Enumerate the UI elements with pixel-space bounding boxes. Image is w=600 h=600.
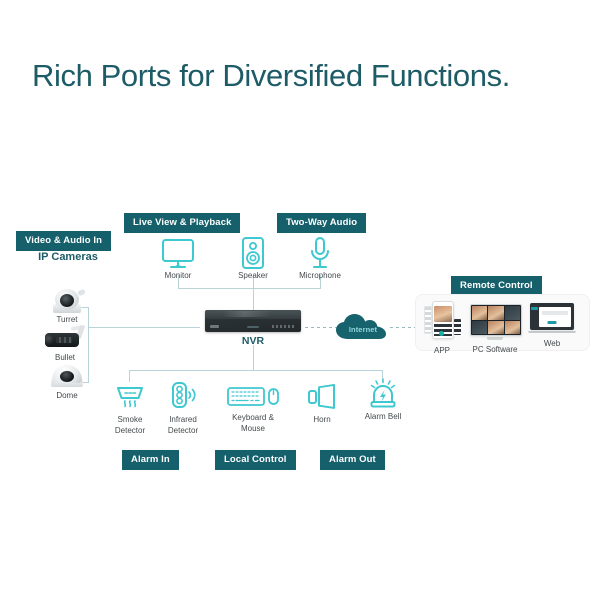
ip-cameras-caption: IP Cameras xyxy=(16,251,120,263)
internet-cloud: Internet xyxy=(334,312,392,342)
peripheral-bus-line xyxy=(129,370,382,371)
peripheral-label-alarm-bell: Alarm Bell xyxy=(357,412,409,423)
peripheral-label-horn: Horn xyxy=(296,415,348,426)
peripheral-item-smoke-detector[interactable]: Smoke Detector xyxy=(104,383,156,437)
peripheral-label-infrared-detector: Infrared Detector xyxy=(157,415,209,437)
cameras-to-nvr-line xyxy=(88,327,200,328)
camera-label-dome: Dome xyxy=(37,391,97,402)
peripheral-item-infrared-detector[interactable]: Infrared Detector xyxy=(157,381,209,437)
badge-alarm-in: Alarm In xyxy=(122,450,179,470)
badge-two-way-audio: Two-Way Audio xyxy=(277,213,366,233)
camera-item-bullet[interactable]: Bullet xyxy=(35,325,95,364)
device-label-microphone: Microphone xyxy=(290,271,350,282)
internet-to-remote-dotted-line xyxy=(390,327,416,328)
turret-camera-icon xyxy=(47,287,87,313)
infrared-detector-icon xyxy=(167,381,199,413)
remote-item-web[interactable]: Web xyxy=(526,303,578,350)
device-label-speaker: Speaker xyxy=(223,271,283,282)
device-item-microphone[interactable]: Microphone xyxy=(290,236,350,282)
smoke-detector-icon xyxy=(114,383,146,413)
badge-live-view-playback: Live View & Playback xyxy=(124,213,240,233)
remote-label-pc-software: PC Software xyxy=(466,345,524,356)
monitor-screen-icon xyxy=(470,304,520,340)
badge-remote-control: Remote Control xyxy=(451,276,542,296)
nvr-to-peripherals-line xyxy=(253,345,254,370)
nvr-device-icon xyxy=(205,310,301,332)
monitor-icon xyxy=(160,238,196,270)
device-label-monitor: Monitor xyxy=(148,271,208,282)
device-item-monitor[interactable]: Monitor xyxy=(148,238,208,282)
diagram-canvas: Rich Ports for Diversified Functions. Vi… xyxy=(0,0,600,600)
badge-local-control: Local Control xyxy=(215,450,296,470)
peripheral-item-alarm-bell[interactable]: Alarm Bell xyxy=(357,378,409,423)
bullet-camera-icon xyxy=(43,325,87,351)
smartphone-icon xyxy=(432,301,452,339)
peripheral-item-horn[interactable]: Horn xyxy=(296,384,348,426)
nvr-to-internet-dotted-line xyxy=(305,327,337,328)
laptop-icon xyxy=(528,303,576,334)
peripheral-item-keyboard-mouse[interactable]: Keyboard & Mouse xyxy=(219,384,287,435)
remote-item-pc-software[interactable]: PC Software xyxy=(466,304,524,356)
microphone-icon xyxy=(308,236,332,270)
output-bus-line xyxy=(178,288,320,289)
camera-item-turret[interactable]: Turret xyxy=(37,287,97,326)
horn-icon xyxy=(306,384,338,410)
output-to-nvr-line xyxy=(253,288,254,310)
internet-label: Internet xyxy=(334,325,392,334)
dome-camera-icon xyxy=(47,363,87,389)
page-title: Rich Ports for Diversified Functions. xyxy=(32,58,510,94)
peripheral-label-smoke-detector: Smoke Detector xyxy=(104,415,156,437)
keyboard-mouse-icon xyxy=(226,384,280,410)
device-item-speaker[interactable]: Speaker xyxy=(223,236,283,282)
smoke-drop-line xyxy=(129,370,130,382)
badge-alarm-out: Alarm Out xyxy=(320,450,385,470)
peripheral-label-keyboard-mouse: Keyboard & Mouse xyxy=(219,413,287,435)
nvr-device[interactable]: NVR xyxy=(205,310,301,347)
remote-label-app: APP xyxy=(418,346,466,357)
remote-label-web: Web xyxy=(526,339,578,350)
badge-video-audio-in: Video & Audio In xyxy=(16,231,111,251)
remote-item-app[interactable]: APP xyxy=(418,301,466,357)
speaker-icon xyxy=(240,236,266,270)
alarm-bell-icon xyxy=(367,378,399,410)
camera-item-dome[interactable]: Dome xyxy=(37,363,97,402)
nvr-label: NVR xyxy=(205,335,301,347)
